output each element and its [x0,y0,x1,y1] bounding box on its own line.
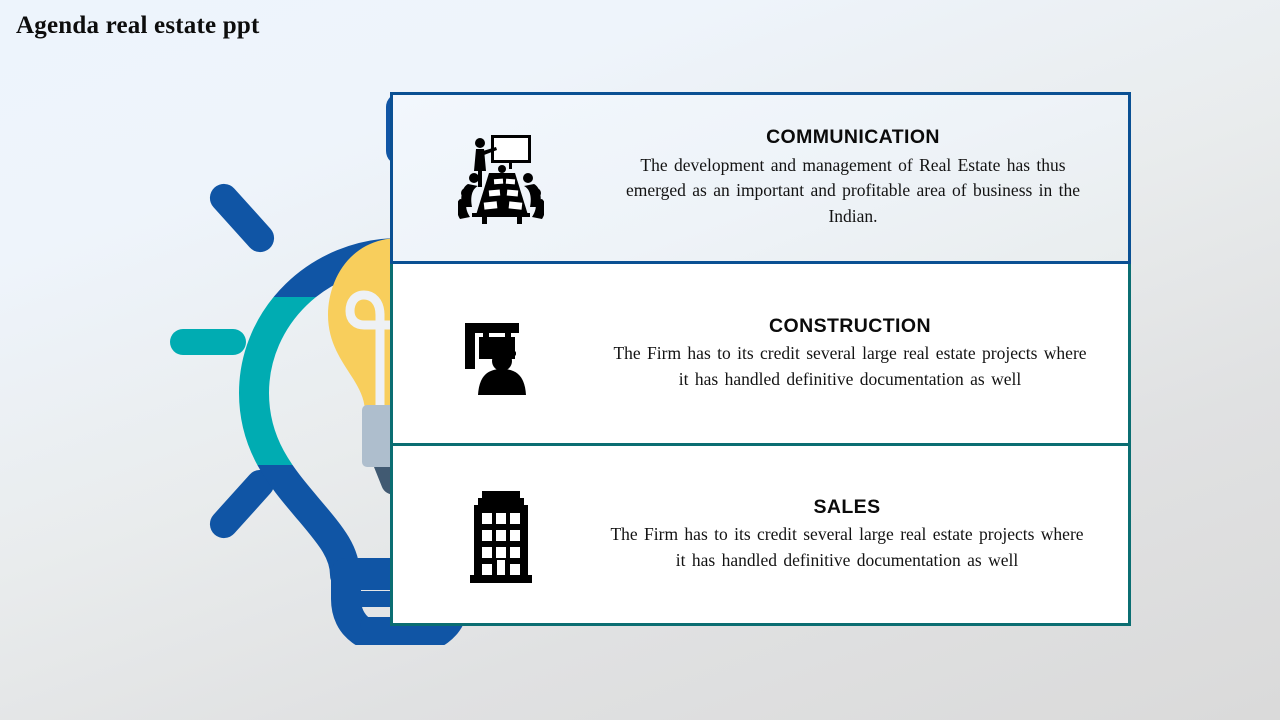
panel-sales[interactable]: SALES The Firm has to its credit several… [390,446,1131,626]
meeting-table-icon-cell [393,131,608,225]
page-title: Agenda real estate ppt [16,12,260,40]
ray-left-horizontal [170,329,246,355]
agenda-panel-list: COMMUNICATION The development and manage… [390,92,1131,626]
slide-canvas: Agenda real estate ppt [0,0,1280,720]
office-building-icon [470,487,532,583]
panel-communication[interactable]: COMMUNICATION The development and manage… [390,92,1131,264]
panel-construction[interactable]: CONSTRUCTION The Firm has to its credit … [390,264,1131,446]
panel-communication-text: COMMUNICATION The development and manage… [608,126,1128,230]
construction-worker-icon-cell [393,313,608,395]
panel-communication-heading: COMMUNICATION [608,126,1098,149]
panel-construction-heading: CONSTRUCTION [608,315,1092,338]
meeting-table-icon [458,131,544,225]
panel-construction-text: CONSTRUCTION The Firm has to its credit … [608,315,1128,393]
panel-sales-body: The Firm has to its credit several large… [608,522,1086,573]
panel-construction-body: The Firm has to its credit several large… [608,341,1092,392]
panel-sales-text: SALES The Firm has to its credit several… [608,496,1128,574]
panel-communication-body: The development and management of Real E… [608,153,1098,230]
office-building-icon-cell [393,487,608,583]
panel-sales-heading: SALES [608,496,1086,519]
ray-upper-left-diagonal [204,178,280,258]
construction-worker-icon [461,313,541,395]
